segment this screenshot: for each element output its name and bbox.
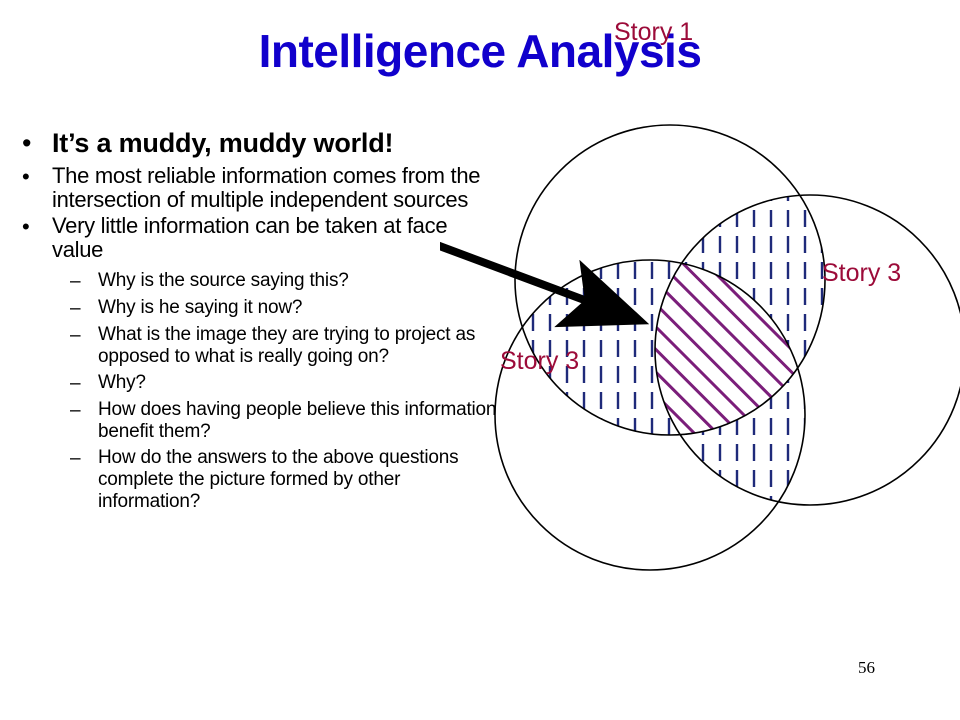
dash-marker-icon: – (70, 270, 98, 293)
venn-label-top: Story 1 (614, 18, 693, 46)
venn-label-right: Story 3 (822, 259, 901, 287)
bullet-text-2: Very little information can be taken at … (52, 214, 492, 262)
sub-bullet-item-3: – What is the image they are trying to p… (70, 324, 500, 368)
sub-bullet-item-4: – Why? (70, 372, 500, 395)
sub-bullet-item-6: – How do the answers to the above questi… (70, 447, 500, 513)
dash-marker-icon: – (70, 372, 98, 395)
bullet-body: • It’s a muddy, muddy world! • The most … (22, 128, 492, 517)
sub-bullet-item-5: – How does having people believe this in… (70, 399, 500, 443)
bullet-marker-icon: • (22, 214, 52, 239)
bullet-marker-icon: • (22, 128, 52, 158)
sub-bullet-list: – Why is the source saying this? – Why i… (70, 270, 500, 513)
dash-marker-icon: – (70, 297, 98, 320)
bullet-text-1: The most reliable information comes from… (52, 164, 492, 212)
sub-bullet-item-2: – Why is he saying it now? (70, 297, 500, 320)
sub-bullet-item-1: – Why is the source saying this? (70, 270, 500, 293)
bullet-item-lead: • It’s a muddy, muddy world! (22, 128, 492, 158)
triple-intersection-fill (440, 0, 960, 640)
venn-label-bottom-left: Story 3 (500, 347, 579, 375)
dash-marker-icon: – (70, 324, 98, 347)
dash-marker-icon: – (70, 399, 98, 422)
bullet-item-2: • Very little information can be taken a… (22, 214, 492, 262)
bullet-item-1: • The most reliable information comes fr… (22, 164, 492, 212)
bullet-marker-icon: • (22, 164, 52, 189)
venn-diagram: Story 1 Story 3 Story 3 (440, 0, 960, 640)
bullet-text-lead: It’s a muddy, muddy world! (52, 128, 492, 158)
page-number: 56 (858, 658, 875, 678)
dash-marker-icon: – (70, 447, 98, 470)
